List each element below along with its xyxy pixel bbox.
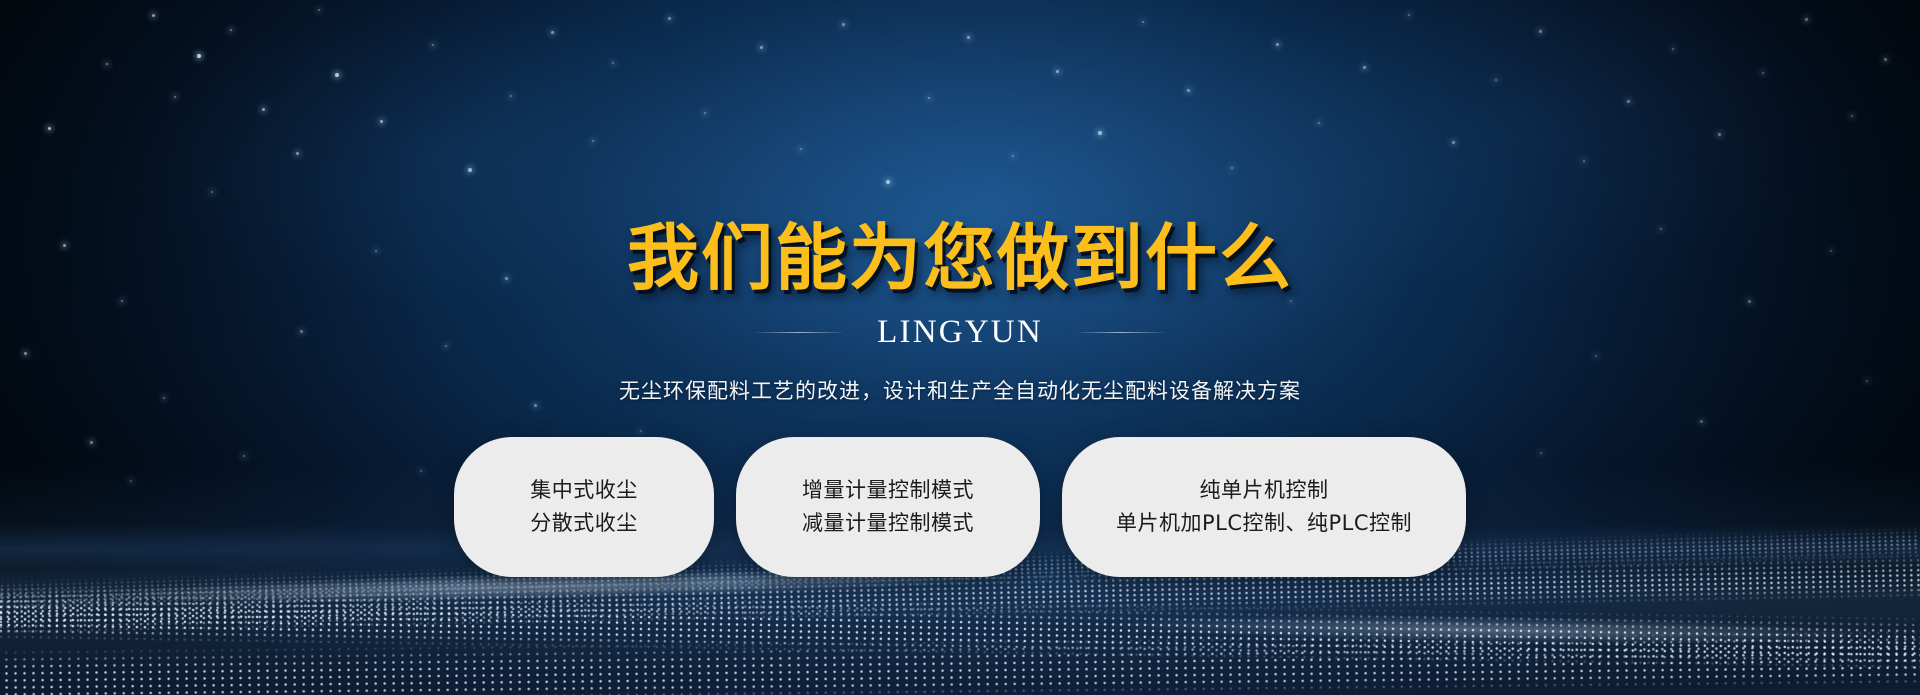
pill-line: 单片机加PLC控制、纯PLC控制: [1116, 513, 1412, 534]
pill-line: 增量计量控制模式: [802, 480, 974, 501]
banner-content: 我们能为您做到什么 LINGYUN 无尘环保配料工艺的改进，设计和生产全自动化无…: [0, 0, 1920, 695]
feature-pill-weighing-mode[interactable]: 增量计量控制模式 减量计量控制模式: [736, 437, 1040, 577]
brand-name: LINGYUN: [877, 316, 1043, 349]
pill-line: 减量计量控制模式: [802, 513, 974, 534]
feature-pill-dust-collection[interactable]: 集中式收尘 分散式收尘: [454, 437, 714, 577]
divider-line-right: [1077, 332, 1165, 333]
brand-eyebrow: LINGYUN: [755, 316, 1165, 349]
feature-pill-group: 集中式收尘 分散式收尘 增量计量控制模式 减量计量控制模式 纯单片机控制 单片机…: [454, 437, 1466, 577]
divider-line-left: [755, 332, 843, 333]
pill-line: 分散式收尘: [530, 513, 638, 534]
page-subtitle: 无尘环保配料工艺的改进，设计和生产全自动化无尘配料设备解决方案: [619, 375, 1301, 405]
hero-banner: 我们能为您做到什么 LINGYUN 无尘环保配料工艺的改进，设计和生产全自动化无…: [0, 0, 1920, 695]
feature-pill-control-system[interactable]: 纯单片机控制 单片机加PLC控制、纯PLC控制: [1062, 437, 1466, 577]
page-title: 我们能为您做到什么: [627, 222, 1293, 294]
pill-line: 集中式收尘: [530, 480, 638, 501]
pill-line: 纯单片机控制: [1200, 480, 1329, 501]
